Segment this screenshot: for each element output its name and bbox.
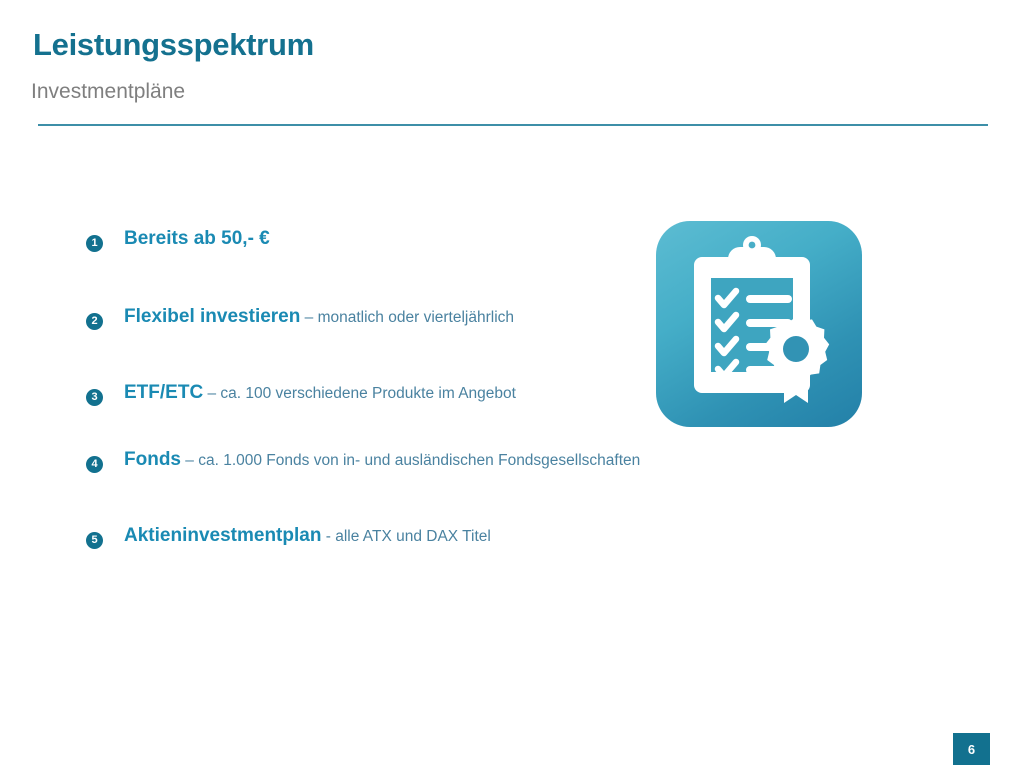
list-item-title: ETF/ETC bbox=[124, 382, 203, 403]
clipboard-checklist-award-icon bbox=[656, 221, 862, 427]
list-item: 3 ETF/ETC – ca. 100 verschiedene Produkt… bbox=[86, 382, 726, 406]
bullet-number-icon: 5 bbox=[86, 526, 124, 549]
list-item-description: - alle ATX und DAX Titel bbox=[321, 528, 490, 545]
list-item-text: Fonds – ca. 1.000 Fonds von in- und ausl… bbox=[124, 449, 726, 471]
page-number-badge: 6 bbox=[953, 733, 990, 765]
list-item-title: Fonds bbox=[124, 449, 181, 470]
list-item-text: ETF/ETC – ca. 100 verschiedene Produkte … bbox=[124, 382, 726, 404]
list-item-text: Aktieninvestmentplan - alle ATX und DAX … bbox=[124, 525, 726, 547]
bullet-number-icon: 3 bbox=[86, 383, 124, 406]
list-item: 5 Aktieninvestmentplan - alle ATX und DA… bbox=[86, 525, 726, 549]
list-item-text: Flexibel investieren – monatlich oder vi… bbox=[124, 306, 726, 328]
list-item-description: – monatlich oder vierteljährlich bbox=[300, 309, 514, 326]
header-divider bbox=[38, 124, 988, 126]
list-item-title: Flexibel investieren bbox=[124, 306, 300, 327]
list-item-description: – ca. 100 verschiedene Produkte im Angeb… bbox=[203, 385, 516, 402]
page-title: Leistungsspektrum bbox=[33, 27, 314, 63]
list-item-title: Bereits ab 50,- € bbox=[124, 228, 270, 249]
list-item: 1 Bereits ab 50,- € bbox=[86, 228, 726, 252]
list-item-description: – ca. 1.000 Fonds von in- und ausländisc… bbox=[181, 452, 640, 469]
page-subtitle: Investmentpläne bbox=[31, 80, 185, 104]
list-item: 2 Flexibel investieren – monatlich oder … bbox=[86, 306, 726, 330]
bullet-number-icon: 1 bbox=[86, 229, 124, 252]
list-item: 4 Fonds – ca. 1.000 Fonds von in- und au… bbox=[86, 449, 726, 473]
bullet-number-icon: 2 bbox=[86, 307, 124, 330]
list-item-text: Bereits ab 50,- € bbox=[124, 228, 726, 250]
list-item-title: Aktieninvestmentplan bbox=[124, 525, 321, 546]
bullet-number-icon: 4 bbox=[86, 450, 124, 473]
bullet-list: 1 Bereits ab 50,- € 2 Flexibel investier… bbox=[86, 228, 726, 549]
